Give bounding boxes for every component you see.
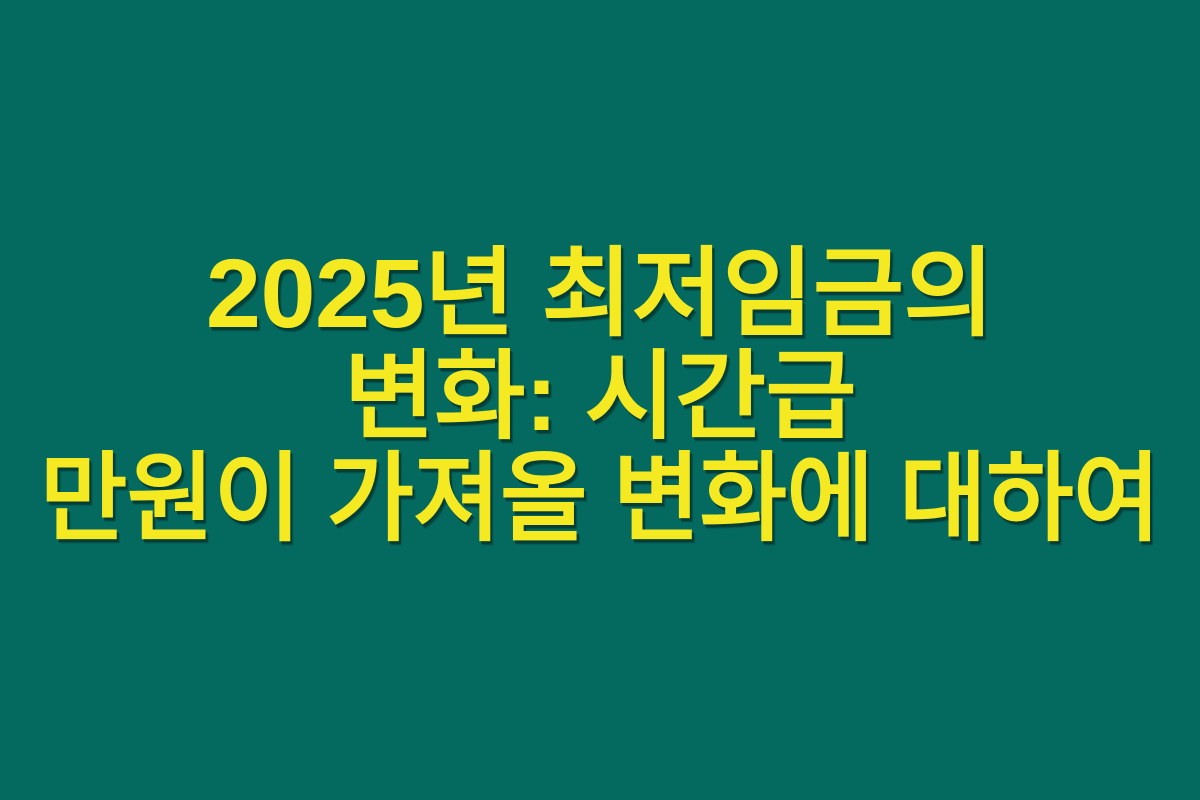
- title-line-2: 변화: 시간급: [2, 346, 1197, 449]
- title-line-3: 만원이 가져올 변화에 대하여: [26, 448, 1173, 551]
- poster-canvas: 2025년 최저임금의 변화: 시간급 만원이 가져올 변화에 대하여: [0, 0, 1200, 800]
- title-line-1: 2025년 최저임금의: [2, 243, 1197, 346]
- poster-title: 2025년 최저임금의 변화: 시간급 만원이 가져올 변화에 대하여: [0, 243, 1200, 551]
